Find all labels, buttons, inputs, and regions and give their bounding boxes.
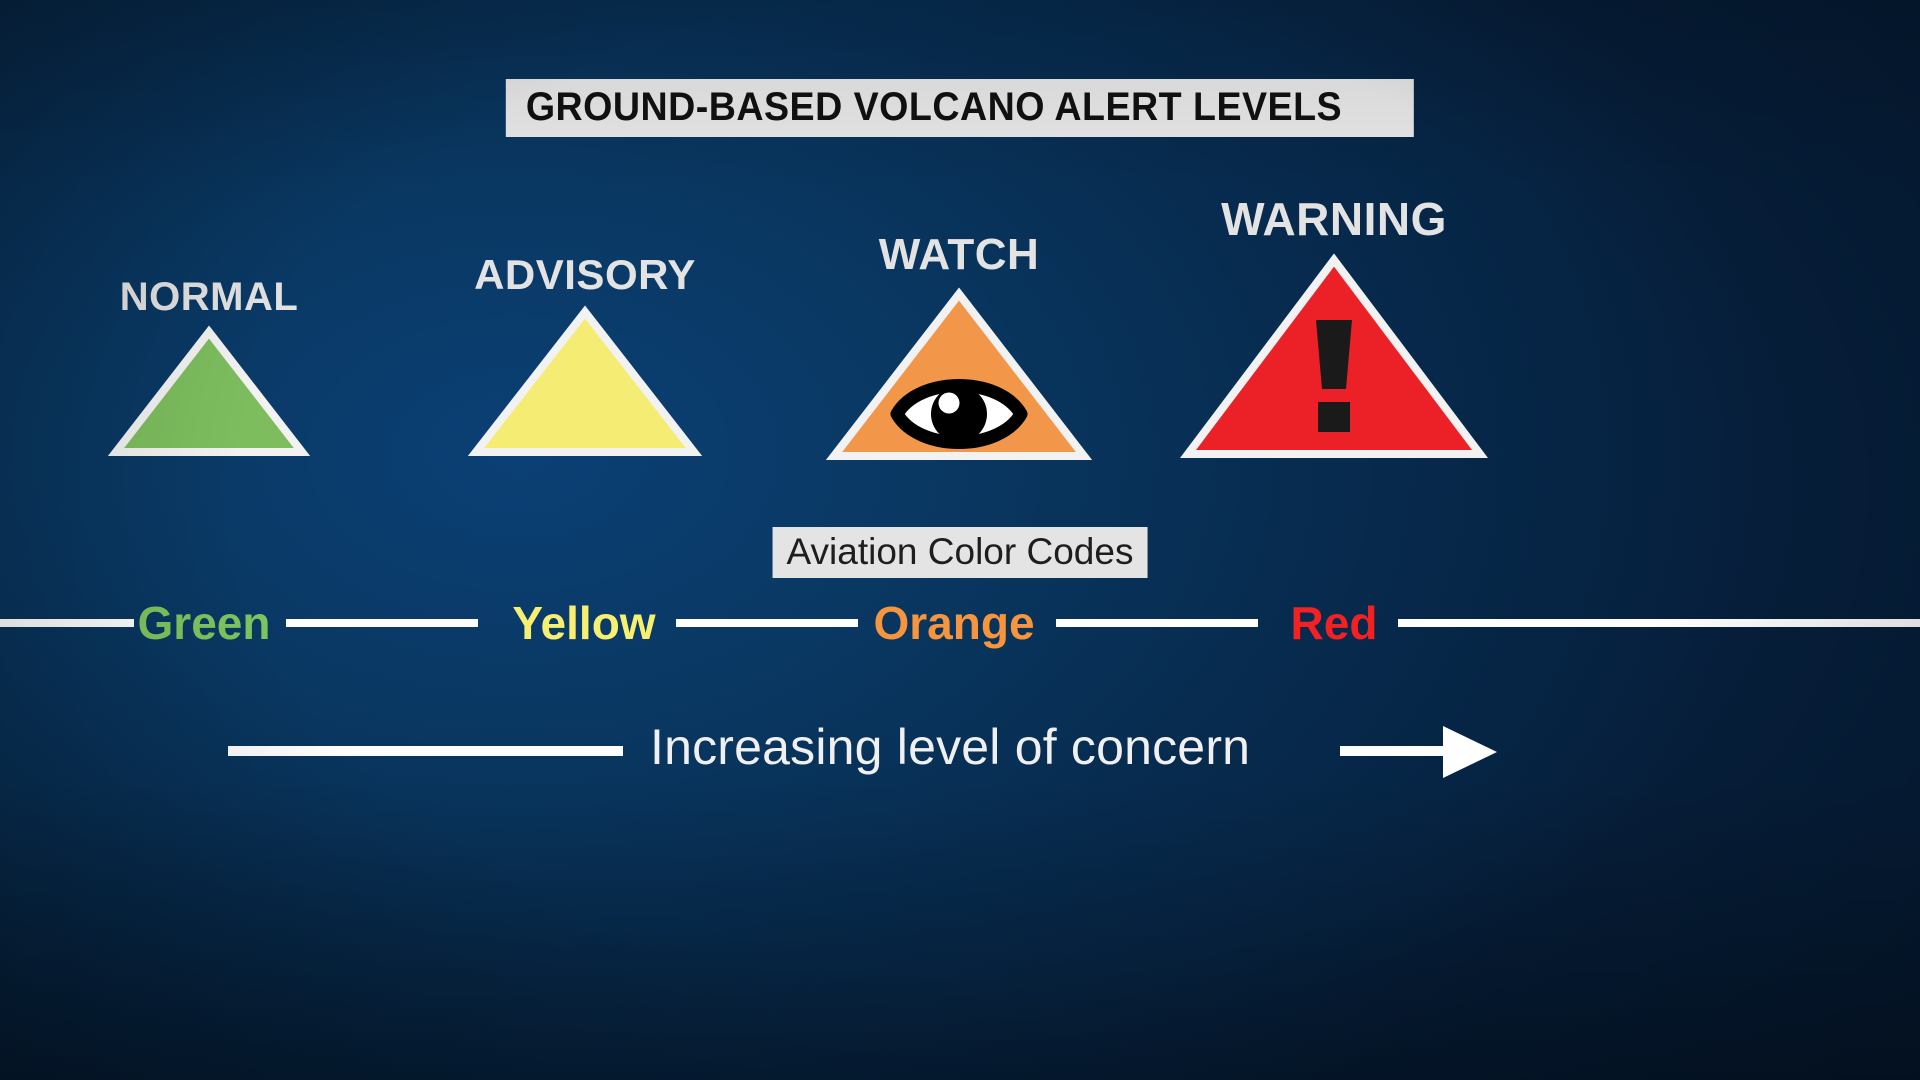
arrow-label: Increasing level of concern (650, 710, 1250, 784)
alert-level-warning: WARNING (1184, 198, 1484, 456)
alert-level-watch: WATCH (830, 234, 1088, 456)
page-title: GROUND-BASED VOLCANO ALERT LEVELS (526, 87, 1342, 127)
arrow-shaft-left (228, 746, 623, 756)
aviation-code-green: Green (138, 595, 271, 651)
infographic-canvas: GROUND-BASED VOLCANO ALERT LEVELS NORMAL… (0, 0, 1920, 1080)
alert-level-advisory: ADVISORY (472, 254, 698, 456)
alert-level-label: WATCH (879, 234, 1040, 276)
triangle-watch (830, 290, 1088, 460)
connector-line (0, 619, 134, 627)
aviation-color-code-row: Green Yellow Orange Red (0, 595, 1920, 653)
aviation-code-red: Red (1291, 595, 1378, 651)
increasing-concern-arrow: Increasing level of concern (0, 710, 1920, 790)
alert-level-label: NORMAL (120, 276, 299, 318)
alert-level-label: WARNING (1221, 198, 1447, 240)
eye-icon (897, 386, 1021, 443)
aviation-color-codes-heading: Aviation Color Codes (787, 531, 1134, 572)
exclamation-icon (1316, 320, 1352, 432)
triangle-normal (112, 328, 306, 456)
alert-level-label: ADVISORY (474, 254, 696, 296)
aviation-color-codes-chip: Aviation Color Codes (773, 527, 1148, 578)
triangle-warning (1184, 256, 1484, 458)
alert-level-normal: NORMAL (112, 276, 306, 456)
connector-line (1398, 619, 1920, 627)
arrow-shaft-right (1340, 746, 1450, 756)
arrow-head-icon (1443, 726, 1497, 778)
connector-line (676, 619, 858, 627)
aviation-code-yellow: Yellow (512, 595, 655, 651)
aviation-code-orange: Orange (873, 595, 1034, 651)
connector-line (286, 619, 478, 627)
triangle-advisory (472, 308, 698, 456)
connector-line (1056, 619, 1258, 627)
title-chip: GROUND-BASED VOLCANO ALERT LEVELS (506, 79, 1414, 137)
